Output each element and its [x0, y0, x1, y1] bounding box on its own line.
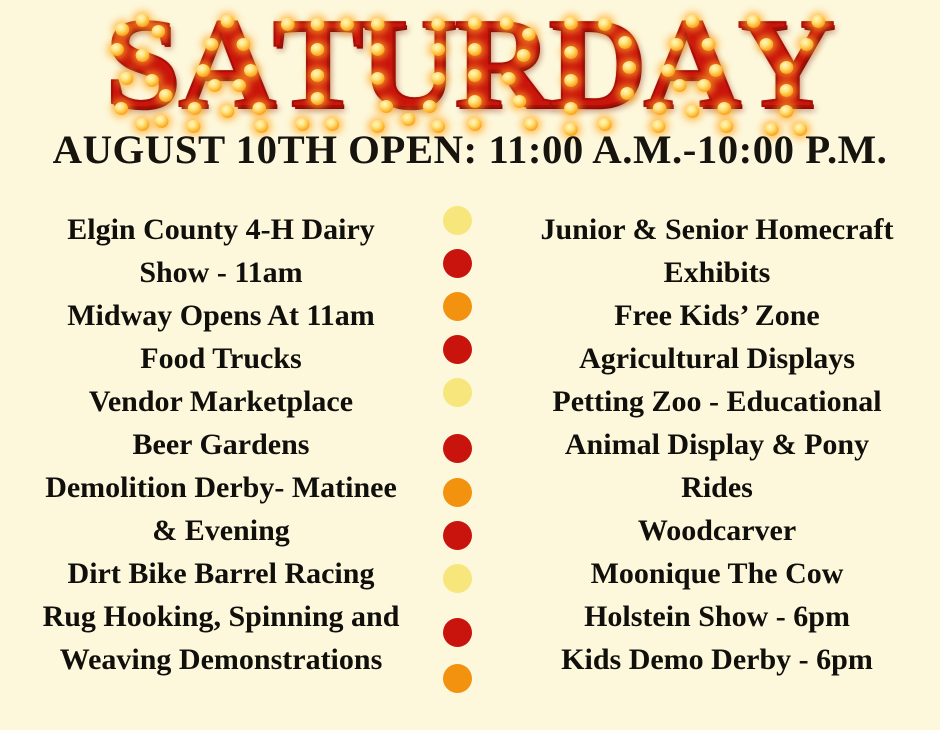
light-bulb-icon: [468, 69, 482, 82]
divider-dot-red: [443, 249, 472, 278]
light-bulb-icon: [114, 102, 128, 115]
light-bulb-icon: [424, 100, 438, 113]
light-bulb-icon: [432, 43, 446, 56]
light-bulb-icon: [432, 72, 446, 85]
event-line: Free Kids’ Zone: [614, 294, 820, 337]
light-bulb-icon: [502, 72, 516, 85]
light-bulb-icon: [196, 64, 210, 77]
event-line: Elgin County 4-H Dairy: [67, 208, 375, 251]
light-bulb-icon: [779, 61, 793, 74]
light-bulb-icon: [701, 38, 715, 51]
divider-dot-red: [443, 618, 472, 647]
marquee-bulbs: [177, 0, 277, 127]
event-line: Rides: [681, 466, 753, 509]
event-line: Agricultural Displays: [579, 337, 855, 380]
light-bulb-icon: [136, 14, 150, 27]
light-bulb-icon: [623, 61, 637, 74]
light-bulb-icon: [121, 72, 135, 85]
event-line: Dirt Bike Barrel Racing: [68, 552, 375, 595]
light-bulb-icon: [252, 102, 266, 115]
light-bulb-icon: [136, 49, 150, 62]
light-bulb-icon: [220, 105, 234, 118]
divider-dot-red: [443, 521, 472, 550]
divider-dot-red: [443, 434, 472, 463]
light-bulb-icon: [159, 89, 173, 102]
light-bulb-icon: [565, 17, 579, 30]
light-bulb-icon: [402, 113, 416, 126]
light-bulb-icon: [661, 64, 675, 77]
event-line: Food Trucks: [140, 337, 301, 380]
event-line: Weaving Demonstrations: [60, 638, 383, 681]
dot-divider: [440, 198, 480, 708]
event-line: Exhibits: [664, 251, 771, 294]
light-bulb-icon: [779, 105, 793, 118]
poster-title-banner: SATURDAY: [0, 2, 940, 124]
light-bulb-icon: [709, 64, 723, 77]
event-line: & Evening: [152, 509, 290, 552]
light-bulb-icon: [236, 38, 250, 51]
divider-dot-yellow: [443, 206, 472, 235]
light-bulb-icon: [500, 17, 514, 30]
right-events-column: Junior & Senior HomecraftExhibitsFree Ki…: [504, 208, 940, 681]
divider-dot-orange: [443, 664, 472, 693]
light-bulb-icon: [717, 102, 731, 115]
light-bulb-icon: [759, 38, 773, 51]
marquee-letter-y: Y: [736, 0, 836, 127]
light-bulb-icon: [565, 102, 579, 115]
light-bulb-icon: [685, 105, 699, 118]
light-bulb-icon: [372, 72, 386, 85]
divider-dot-orange: [443, 292, 472, 321]
light-bulb-icon: [653, 102, 667, 115]
light-bulb-icon: [111, 43, 125, 56]
marquee-letter-u: U: [359, 0, 459, 127]
light-bulb-icon: [673, 79, 687, 92]
light-bulb-icon: [244, 64, 258, 77]
light-bulb-icon: [116, 23, 130, 36]
light-bulb-icon: [468, 95, 482, 108]
light-bulb-icon: [619, 36, 633, 49]
event-line: Woodcarver: [638, 509, 796, 552]
light-bulb-icon: [340, 18, 354, 31]
divider-dot-yellow: [443, 564, 472, 593]
light-bulb-icon: [565, 46, 579, 59]
divider-dot-orange: [443, 478, 472, 507]
marquee-letter-d: D: [547, 0, 647, 127]
left-events-column: Elgin County 4-H DairyShow - 11amMidway …: [0, 208, 434, 681]
marquee-letter-r: R: [453, 0, 553, 127]
event-line: Beer Gardens: [133, 423, 310, 466]
event-line: Show - 11am: [139, 251, 302, 294]
light-bulb-icon: [311, 92, 325, 105]
light-bulb-icon: [281, 18, 295, 31]
event-line: Junior & Senior Homecraft: [540, 208, 893, 251]
light-bulb-icon: [669, 38, 683, 51]
marquee-bulbs: [642, 0, 742, 127]
marquee-title: SATURDAY: [106, 0, 833, 127]
light-bulb-icon: [747, 15, 761, 28]
poster-subtitle-hours: AUGUST 10TH OPEN: 11:00 A.M.-10:00 P.M.: [0, 126, 940, 173]
marquee-letter-t: T: [271, 0, 364, 127]
marquee-letter-a: A: [177, 0, 277, 127]
event-line: Midway Opens At 11am: [67, 294, 375, 337]
light-bulb-icon: [145, 74, 159, 87]
event-line: Animal Display & Pony: [565, 423, 869, 466]
light-bulb-icon: [311, 18, 325, 31]
light-bulb-icon: [152, 25, 166, 38]
event-line: Vendor Marketplace: [89, 380, 353, 423]
marquee-bulbs: [359, 0, 459, 127]
marquee-bulbs: [547, 0, 647, 127]
marquee-letter-a: A: [642, 0, 742, 127]
event-line: Kids Demo Derby - 6pm: [561, 638, 873, 681]
event-line: Petting Zoo - Educational: [552, 380, 881, 423]
divider-dot-yellow: [443, 378, 472, 407]
light-bulb-icon: [380, 100, 394, 113]
light-bulb-icon: [516, 49, 530, 62]
light-bulb-icon: [188, 102, 202, 115]
light-bulb-icon: [599, 18, 613, 31]
light-bulb-icon: [432, 18, 446, 31]
saturday-schedule-poster: SATURDAY AUGUST 10TH OPEN: 11:00 A.M.-10…: [0, 0, 940, 730]
light-bulb-icon: [621, 87, 635, 100]
event-line: Demolition Derby- Matinee: [45, 466, 397, 509]
marquee-bulbs: [104, 0, 182, 127]
marquee-bulbs: [271, 0, 364, 127]
event-line: Rug Hooking, Spinning and: [43, 595, 400, 638]
light-bulb-icon: [812, 15, 826, 28]
marquee-letter-s: S: [104, 0, 182, 127]
light-bulb-icon: [697, 79, 711, 92]
event-line: Moonique The Cow: [591, 552, 844, 595]
light-bulb-icon: [372, 18, 386, 31]
light-bulb-icon: [311, 43, 325, 56]
light-bulb-icon: [799, 38, 813, 51]
light-bulb-icon: [522, 28, 536, 41]
light-bulb-icon: [208, 79, 222, 92]
light-bulb-icon: [468, 17, 482, 30]
marquee-bulbs: [453, 0, 553, 127]
light-bulb-icon: [311, 69, 325, 82]
light-bulb-icon: [565, 74, 579, 87]
light-bulb-icon: [468, 43, 482, 56]
light-bulb-icon: [220, 15, 234, 28]
light-bulb-icon: [372, 43, 386, 56]
light-bulb-icon: [232, 79, 246, 92]
divider-dot-red: [443, 335, 472, 364]
light-bulb-icon: [779, 84, 793, 97]
light-bulb-icon: [204, 38, 218, 51]
light-bulb-icon: [512, 95, 526, 108]
light-bulb-icon: [685, 15, 699, 28]
event-line: Holstein Show - 6pm: [584, 595, 850, 638]
marquee-bulbs: [736, 0, 836, 127]
